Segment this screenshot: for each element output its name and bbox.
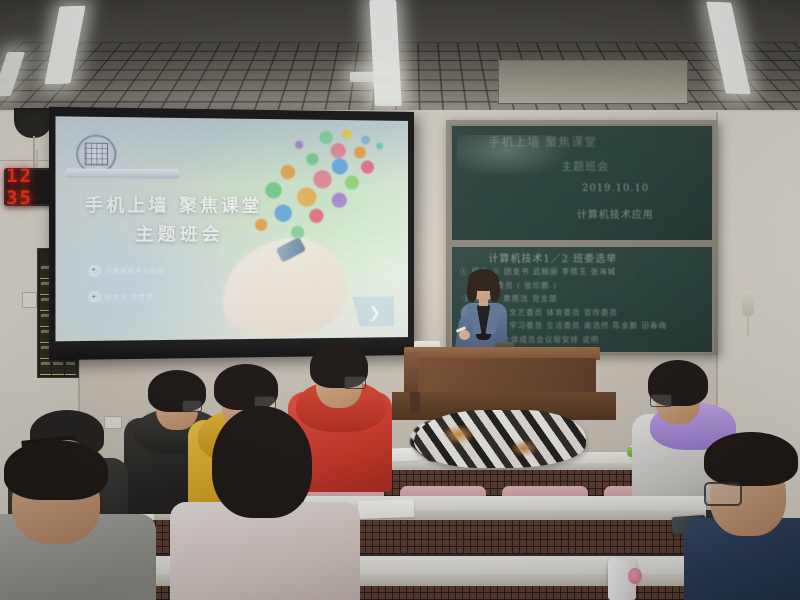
student-glasses-icon bbox=[344, 376, 366, 389]
balloon bbox=[342, 129, 352, 139]
fluorescent-strip-light bbox=[350, 72, 394, 82]
balloon bbox=[295, 140, 303, 148]
teacher-glasses-icon bbox=[474, 283, 493, 289]
balloon bbox=[281, 165, 295, 179]
student-hair bbox=[704, 432, 798, 486]
projection-screen: 手机上墙 聚焦课堂 主题班会 ✦ 计算机技术与应用 ✦ 班主任 李老师 ❯ bbox=[49, 107, 414, 360]
balloon bbox=[319, 131, 332, 144]
slide-bullet-2: ✦ 班主任 李老师 bbox=[88, 291, 153, 303]
thermos-cap bbox=[628, 568, 642, 584]
balloon bbox=[360, 135, 369, 144]
slide-title-line1: 手机上墙 聚焦课堂 bbox=[85, 191, 347, 217]
slide-bullet-1: ✦ 计算机技术与应用 bbox=[88, 264, 165, 276]
balloon bbox=[345, 175, 359, 189]
bullet-dot-icon: ✦ bbox=[88, 292, 100, 303]
balloon bbox=[354, 146, 366, 158]
schedule-row bbox=[40, 360, 76, 375]
student-glasses-icon bbox=[704, 482, 742, 506]
blackboard-upper-pane: 手机上墙 聚焦课堂 主题班会 2019.10.10 计算机技术应用 bbox=[450, 124, 714, 242]
podium-leg bbox=[410, 392, 420, 414]
wooden-podium bbox=[408, 358, 596, 394]
slide-bullet-2-label: 班主任 李老师 bbox=[106, 292, 154, 302]
schedule-cell bbox=[40, 360, 51, 375]
student-glasses-icon bbox=[650, 394, 672, 407]
presentation-slide: 手机上墙 聚焦课堂 主题班会 ✦ 计算机技术与应用 ✦ 班主任 李老师 ❯ bbox=[55, 116, 408, 341]
slide-title-line2: 主题班会 bbox=[136, 220, 381, 246]
patterned-jacket bbox=[414, 410, 586, 468]
student-grey-shirt bbox=[0, 440, 168, 600]
student-navy-jacket bbox=[690, 430, 800, 600]
board-heading: 计算机技术1／2 班委选举 bbox=[488, 250, 617, 265]
student-hair bbox=[212, 406, 312, 518]
slide-laptop-graphic bbox=[66, 168, 178, 178]
balloon bbox=[307, 153, 319, 165]
ceiling-beam-box bbox=[498, 60, 688, 104]
student-pink-jacket bbox=[170, 406, 370, 600]
projection-screen-surface: 手机上墙 聚焦课堂 主题班会 ✦ 计算机技术与应用 ✦ 班主任 李老师 ❯ bbox=[55, 116, 408, 341]
ceiling bbox=[0, 0, 800, 118]
fluorescent-strip-light bbox=[369, 0, 402, 106]
balloon bbox=[330, 143, 345, 158]
emblem-inner-pattern bbox=[84, 143, 108, 166]
board-title-line1: 手机上墙 聚焦课堂 bbox=[488, 133, 597, 150]
teacher-hand bbox=[459, 330, 470, 340]
balloon bbox=[313, 170, 331, 188]
classroom-scene: 12 35 bbox=[0, 0, 800, 600]
slide-bullet-1-label: 计算机技术与应用 bbox=[106, 265, 165, 275]
student-hair bbox=[4, 440, 108, 500]
board-title-line2: 主题班会 bbox=[561, 158, 609, 174]
balloon bbox=[332, 158, 348, 174]
bullet-dot-icon: ✦ bbox=[88, 265, 100, 276]
wall-intercom-icon[interactable] bbox=[742, 290, 754, 316]
balloon bbox=[376, 143, 383, 150]
board-dept: 计算机技术应用 bbox=[577, 206, 654, 221]
board-date: 2019.10.10 bbox=[582, 183, 649, 194]
balloon bbox=[360, 161, 373, 174]
chevron-right-icon: ❯ bbox=[368, 305, 381, 320]
intercom-cord bbox=[747, 314, 749, 336]
schedule-cell bbox=[65, 360, 76, 375]
schedule-cell bbox=[52, 360, 63, 375]
light-switch-plate[interactable] bbox=[22, 292, 37, 308]
